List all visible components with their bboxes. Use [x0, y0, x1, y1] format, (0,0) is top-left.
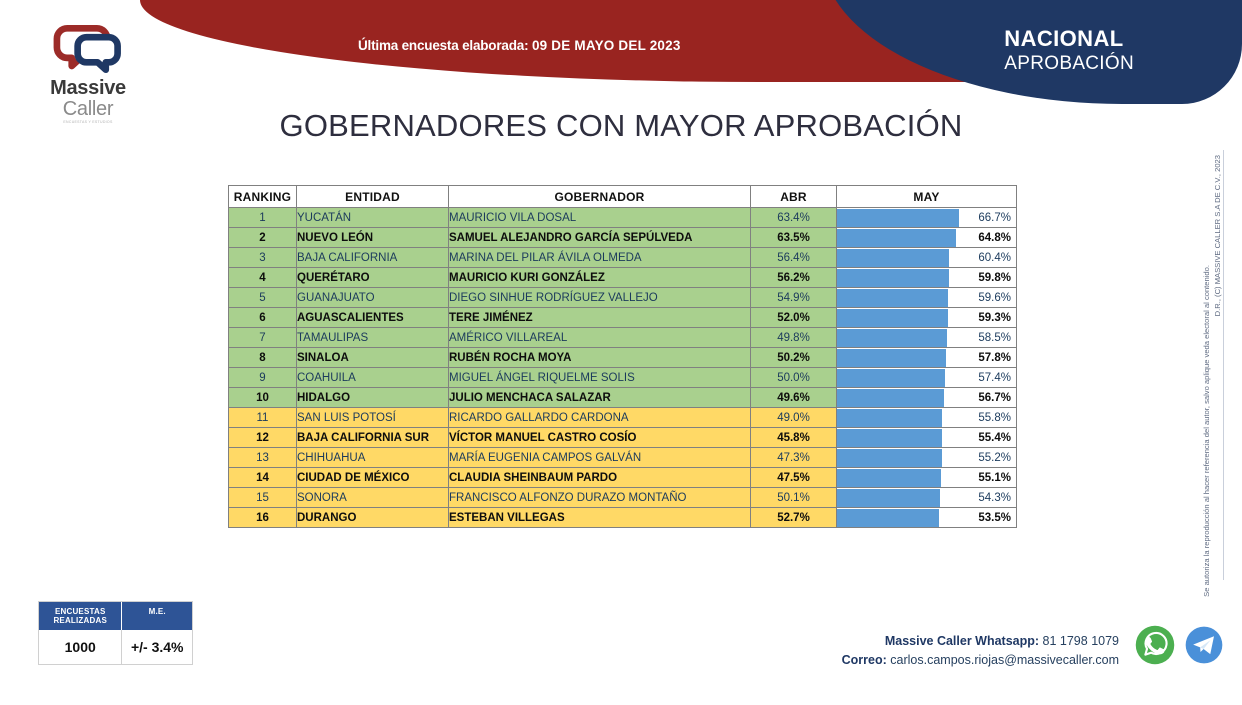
bar-container: 54.3%	[837, 489, 1016, 507]
cell-gobernador: ESTEBAN VILLEGAS	[449, 508, 751, 528]
sample-header-margin: M.E.	[122, 602, 192, 630]
table-row: 14CIUDAD DE MÉXICOCLAUDIA SHEINBAUM PARD…	[229, 468, 1017, 488]
cell-ranking: 16	[229, 508, 297, 528]
cell-gobernador: MIGUEL ÁNGEL RIQUELME SOLIS	[449, 368, 751, 388]
cell-gobernador: VÍCTOR MANUEL CASTRO COSÍO	[449, 428, 751, 448]
bar-container: 64.8%	[837, 229, 1016, 247]
bar-container: 59.3%	[837, 309, 1016, 327]
bar-container: 55.1%	[837, 469, 1016, 487]
bar-value-label: 59.8%	[978, 269, 1011, 287]
contact-email-line: Correo: carlos.campos.riojas@massivecall…	[842, 651, 1119, 670]
cell-gobernador: RUBÉN ROCHA MOYA	[449, 348, 751, 368]
survey-date-value: 09 DE MAYO DEL 2023	[532, 38, 681, 53]
legal-reproduction-notice: Se autoriza la reproducción al hacer ref…	[1202, 265, 1211, 597]
cell-gobernador: MAURICIO KURI GONZÁLEZ	[449, 268, 751, 288]
bar-fill	[837, 209, 959, 227]
cell-abr: 49.6%	[751, 388, 837, 408]
cell-may-bar: 66.7%	[837, 208, 1017, 228]
bar-container: 55.4%	[837, 429, 1016, 447]
cell-ranking: 5	[229, 288, 297, 308]
cell-ranking: 12	[229, 428, 297, 448]
bar-value-label: 57.4%	[978, 369, 1011, 387]
sample-box-body: 1000 +/- 3.4%	[39, 630, 192, 664]
whatsapp-icon[interactable]	[1134, 624, 1176, 666]
contact-whatsapp-line: Massive Caller Whatsapp: 81 1798 1079	[842, 632, 1119, 651]
cell-entidad: BAJA CALIFORNIA	[297, 248, 449, 268]
cell-ranking: 1	[229, 208, 297, 228]
cell-may-bar: 59.8%	[837, 268, 1017, 288]
table-row: 16DURANGOESTEBAN VILLEGAS52.7%53.5%	[229, 508, 1017, 528]
cell-ranking: 13	[229, 448, 297, 468]
cell-ranking: 2	[229, 228, 297, 248]
cell-entidad: HIDALGO	[297, 388, 449, 408]
cell-entidad: DURANGO	[297, 508, 449, 528]
ranking-table: RANKING ENTIDAD GOBERNADOR ABR MAY 1YUCA…	[228, 185, 1017, 528]
cell-abr: 52.7%	[751, 508, 837, 528]
cell-entidad: NUEVO LEÓN	[297, 228, 449, 248]
ranking-table-container: RANKING ENTIDAD GOBERNADOR ABR MAY 1YUCA…	[228, 185, 1016, 528]
contact-whatsapp-value[interactable]: 81 1798 1079	[1043, 634, 1119, 648]
logo-tagline: ENCUESTAS Y ESTUDIOS	[38, 120, 138, 124]
cell-gobernador: RICARDO GALLARDO CARDONA	[449, 408, 751, 428]
cell-entidad: QUERÉTARO	[297, 268, 449, 288]
cell-gobernador: FRANCISCO ALFONZO DURAZO MONTAÑO	[449, 488, 751, 508]
cell-abr: 47.3%	[751, 448, 837, 468]
page-title: GOBERNADORES CON MAYOR APROBACIÓN	[0, 108, 1242, 144]
bar-fill	[837, 249, 949, 267]
column-header-gobernador: GOBERNADOR	[449, 186, 751, 208]
cell-ranking: 10	[229, 388, 297, 408]
cell-entidad: TAMAULIPAS	[297, 328, 449, 348]
cell-entidad: BAJA CALIFORNIA SUR	[297, 428, 449, 448]
social-links	[1134, 624, 1224, 666]
speech-bubbles-logo-icon	[51, 22, 125, 76]
cell-abr: 54.9%	[751, 288, 837, 308]
bar-fill	[837, 329, 947, 347]
cell-gobernador: AMÉRICO VILLAREAL	[449, 328, 751, 348]
cell-abr: 63.4%	[751, 208, 837, 228]
cell-abr: 50.1%	[751, 488, 837, 508]
cell-may-bar: 54.3%	[837, 488, 1017, 508]
bar-fill	[837, 389, 944, 407]
cell-abr: 56.2%	[751, 268, 837, 288]
bar-fill	[837, 229, 956, 247]
table-row: 9COAHUILAMIGUEL ÁNGEL RIQUELME SOLIS50.0…	[229, 368, 1017, 388]
cell-may-bar: 64.8%	[837, 228, 1017, 248]
contact-email-value[interactable]: carlos.campos.riojas@massivecaller.com	[890, 653, 1119, 667]
table-row: 5GUANAJUATODIEGO SINHUE RODRÍGUEZ VALLEJ…	[229, 288, 1017, 308]
cell-may-bar: 57.8%	[837, 348, 1017, 368]
bar-value-label: 55.4%	[978, 429, 1011, 447]
bar-fill	[837, 309, 948, 327]
contact-block: Massive Caller Whatsapp: 81 1798 1079 Co…	[842, 632, 1119, 670]
bar-container: 60.4%	[837, 249, 1016, 267]
cell-may-bar: 56.7%	[837, 388, 1017, 408]
cell-ranking: 8	[229, 348, 297, 368]
cell-abr: 63.5%	[751, 228, 837, 248]
bar-value-label: 53.5%	[978, 509, 1011, 527]
sample-header-surveys-line1: ENCUESTAS	[55, 607, 106, 616]
bar-fill	[837, 409, 942, 427]
bar-fill	[837, 449, 942, 467]
sample-value-margin: +/- 3.4%	[122, 630, 192, 664]
table-row: 10HIDALGOJULIO MENCHACA SALAZAR49.6%56.7…	[229, 388, 1017, 408]
cell-ranking: 15	[229, 488, 297, 508]
cell-abr: 49.0%	[751, 408, 837, 428]
bar-container: 55.2%	[837, 449, 1016, 467]
cell-ranking: 14	[229, 468, 297, 488]
bar-fill	[837, 349, 946, 367]
cell-gobernador: SAMUEL ALEJANDRO GARCÍA SEPÚLVEDA	[449, 228, 751, 248]
logo-text-secondary: Caller	[38, 99, 138, 120]
cell-entidad: COAHUILA	[297, 368, 449, 388]
bar-container: 56.7%	[837, 389, 1016, 407]
cell-ranking: 4	[229, 268, 297, 288]
cell-gobernador: CLAUDIA SHEINBAUM PARDO	[449, 468, 751, 488]
side-divider	[1223, 150, 1224, 580]
bar-fill	[837, 469, 941, 487]
cell-gobernador: MARINA DEL PILAR ÁVILA OLMEDA	[449, 248, 751, 268]
bar-fill	[837, 269, 949, 287]
bar-fill	[837, 489, 940, 507]
logo-text-primary: Massive	[38, 78, 138, 99]
telegram-icon[interactable]	[1184, 625, 1224, 665]
cell-gobernador: TERE JIMÉNEZ	[449, 308, 751, 328]
cell-gobernador: MAURICIO VILA DOSAL	[449, 208, 751, 228]
header-subject: APROBACIÓN	[1004, 52, 1134, 76]
bar-fill	[837, 369, 945, 387]
cell-may-bar: 55.1%	[837, 468, 1017, 488]
bar-value-label: 60.4%	[978, 249, 1011, 267]
bar-value-label: 56.7%	[978, 389, 1011, 407]
bar-fill	[837, 429, 942, 447]
survey-date: Última encuesta elaborada: 09 DE MAYO DE…	[358, 38, 681, 53]
bar-value-label: 54.3%	[978, 489, 1011, 507]
cell-abr: 50.0%	[751, 368, 837, 388]
table-row: 1YUCATÁNMAURICIO VILA DOSAL63.4%66.7%	[229, 208, 1017, 228]
bar-container: 58.5%	[837, 329, 1016, 347]
cell-abr: 50.2%	[751, 348, 837, 368]
bar-value-label: 57.8%	[978, 349, 1011, 367]
table-header: RANKING ENTIDAD GOBERNADOR ABR MAY	[229, 186, 1017, 208]
table-row: 11SAN LUIS POTOSÍRICARDO GALLARDO CARDON…	[229, 408, 1017, 428]
contact-whatsapp-label: Massive Caller Whatsapp:	[885, 634, 1039, 648]
cell-ranking: 7	[229, 328, 297, 348]
cell-ranking: 3	[229, 248, 297, 268]
column-header-entidad: ENTIDAD	[297, 186, 449, 208]
survey-date-label: Última encuesta elaborada:	[358, 38, 528, 53]
cell-entidad: SAN LUIS POTOSÍ	[297, 408, 449, 428]
bar-value-label: 66.7%	[978, 209, 1011, 227]
bar-fill	[837, 289, 948, 307]
sample-header-surveys-line2: REALIZADAS	[53, 616, 107, 625]
table-row: 13CHIHUAHUAMARÍA EUGENIA CAMPOS GALVÁN47…	[229, 448, 1017, 468]
cell-gobernador: DIEGO SINHUE RODRÍGUEZ VALLEJO	[449, 288, 751, 308]
bar-value-label: 59.6%	[978, 289, 1011, 307]
sample-box-header: ENCUESTAS REALIZADAS M.E.	[39, 602, 192, 630]
table-row: 4QUERÉTAROMAURICIO KURI GONZÁLEZ56.2%59.…	[229, 268, 1017, 288]
cell-may-bar: 57.4%	[837, 368, 1017, 388]
cell-entidad: GUANAJUATO	[297, 288, 449, 308]
cell-entidad: AGUASCALIENTES	[297, 308, 449, 328]
cell-abr: 52.0%	[751, 308, 837, 328]
brand-logo: Massive Caller ENCUESTAS Y ESTUDIOS	[38, 22, 138, 124]
table-row: 15SONORAFRANCISCO ALFONZO DURAZO MONTAÑO…	[229, 488, 1017, 508]
bar-container: 59.8%	[837, 269, 1016, 287]
table-body: 1YUCATÁNMAURICIO VILA DOSAL63.4%66.7%2NU…	[229, 208, 1017, 528]
cell-entidad: CHIHUAHUA	[297, 448, 449, 468]
sample-header-surveys: ENCUESTAS REALIZADAS	[39, 602, 122, 630]
cell-may-bar: 55.8%	[837, 408, 1017, 428]
column-header-may: MAY	[837, 186, 1017, 208]
cell-gobernador: MARÍA EUGENIA CAMPOS GALVÁN	[449, 448, 751, 468]
bar-value-label: 55.2%	[978, 449, 1011, 467]
table-row: 6AGUASCALIENTESTERE JIMÉNEZ52.0%59.3%	[229, 308, 1017, 328]
cell-abr: 49.8%	[751, 328, 837, 348]
bar-container: 57.4%	[837, 369, 1016, 387]
cell-may-bar: 58.5%	[837, 328, 1017, 348]
cell-entidad: SONORA	[297, 488, 449, 508]
bar-container: 55.8%	[837, 409, 1016, 427]
cell-may-bar: 60.4%	[837, 248, 1017, 268]
bar-fill	[837, 509, 939, 527]
table-row: 7TAMAULIPASAMÉRICO VILLAREAL49.8%58.5%	[229, 328, 1017, 348]
table-header-row: RANKING ENTIDAD GOBERNADOR ABR MAY	[229, 186, 1017, 208]
bar-value-label: 59.3%	[978, 309, 1011, 327]
bar-value-label: 58.5%	[978, 329, 1011, 347]
cell-entidad: SINALOA	[297, 348, 449, 368]
cell-may-bar: 59.3%	[837, 308, 1017, 328]
cell-may-bar: 55.4%	[837, 428, 1017, 448]
cell-ranking: 11	[229, 408, 297, 428]
cell-entidad: YUCATÁN	[297, 208, 449, 228]
bar-container: 59.6%	[837, 289, 1016, 307]
cell-entidad: CIUDAD DE MÉXICO	[297, 468, 449, 488]
bar-value-label: 55.1%	[978, 469, 1011, 487]
header-scope: NACIONAL	[1004, 27, 1134, 52]
sample-value-surveys: 1000	[39, 630, 122, 664]
bar-value-label: 64.8%	[978, 229, 1011, 247]
cell-may-bar: 55.2%	[837, 448, 1017, 468]
cell-may-bar: 53.5%	[837, 508, 1017, 528]
bar-container: 57.8%	[837, 349, 1016, 367]
bar-container: 53.5%	[837, 509, 1016, 527]
table-row: 12BAJA CALIFORNIA SURVÍCTOR MANUEL CASTR…	[229, 428, 1017, 448]
cell-abr: 47.5%	[751, 468, 837, 488]
table-row: 2NUEVO LEÓNSAMUEL ALEJANDRO GARCÍA SEPÚL…	[229, 228, 1017, 248]
cell-abr: 56.4%	[751, 248, 837, 268]
cell-gobernador: JULIO MENCHACA SALAZAR	[449, 388, 751, 408]
table-row: 3BAJA CALIFORNIAMARINA DEL PILAR ÁVILA O…	[229, 248, 1017, 268]
cell-abr: 45.8%	[751, 428, 837, 448]
contact-email-label: Correo:	[842, 653, 887, 667]
cell-may-bar: 59.6%	[837, 288, 1017, 308]
table-row: 8SINALOARUBÉN ROCHA MOYA50.2%57.8%	[229, 348, 1017, 368]
bar-value-label: 55.8%	[978, 409, 1011, 427]
column-header-abr: ABR	[751, 186, 837, 208]
column-header-ranking: RANKING	[229, 186, 297, 208]
sample-size-box: ENCUESTAS REALIZADAS M.E. 1000 +/- 3.4%	[38, 601, 193, 665]
legal-copyright: D.R., (C) MASSIVE CALLER S.A DE C.V., 20…	[1213, 155, 1222, 316]
header-scope-block: NACIONAL APROBACIÓN	[1004, 27, 1134, 75]
cell-ranking: 9	[229, 368, 297, 388]
bar-container: 66.7%	[837, 209, 1016, 227]
cell-ranking: 6	[229, 308, 297, 328]
